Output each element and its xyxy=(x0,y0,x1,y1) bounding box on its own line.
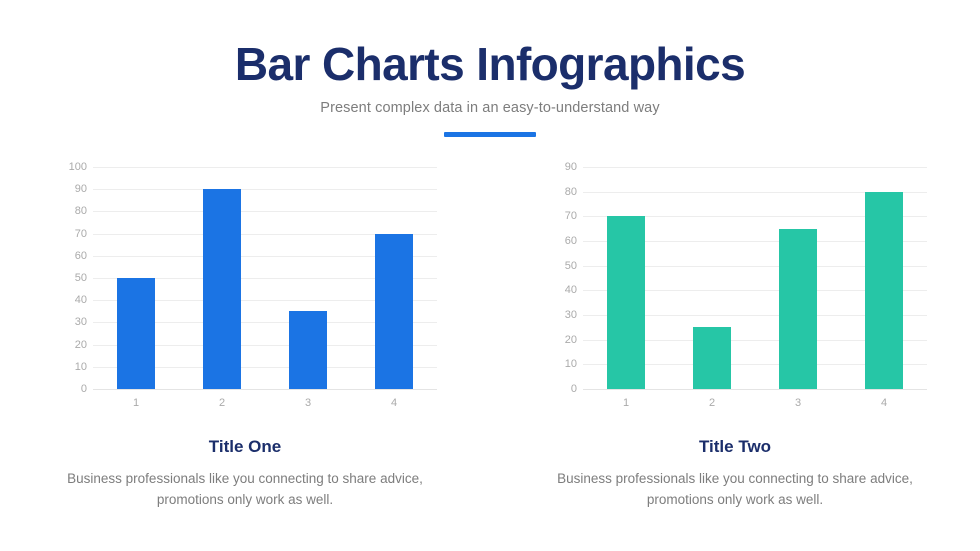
y-tick-label: 40 xyxy=(565,284,577,296)
y-tick-label: 60 xyxy=(75,250,87,262)
x-tick-label: 2 xyxy=(179,397,265,409)
chart-caption-one: Business professionals like you connecti… xyxy=(55,469,435,511)
y-tick-label: 20 xyxy=(75,339,87,351)
y-tick-label: 30 xyxy=(75,316,87,328)
bar[interactable] xyxy=(779,229,817,389)
bar[interactable] xyxy=(375,234,413,389)
y-tick-label: 100 xyxy=(69,161,87,173)
y-tick-label: 90 xyxy=(75,183,87,195)
y-tick-label: 0 xyxy=(571,383,577,395)
x-tick-label: 4 xyxy=(351,397,437,409)
y-tick-label: 50 xyxy=(565,260,577,272)
bar[interactable] xyxy=(289,311,327,389)
y-tick-label: 40 xyxy=(75,294,87,306)
plot-area-two xyxy=(583,167,927,389)
chart-title-one: Title One xyxy=(209,437,281,457)
bar-slot xyxy=(755,167,841,389)
x-tick-label: 1 xyxy=(583,397,669,409)
plot-area-one xyxy=(93,167,437,389)
chart-panel-two: 0102030405060708090 1234 Title Two Busin… xyxy=(490,155,980,511)
bar-slot xyxy=(265,167,351,389)
gridline xyxy=(583,389,927,390)
x-axis-labels-one: 1234 xyxy=(93,397,437,409)
bar-chart-two: 0102030405060708090 1234 xyxy=(535,155,935,405)
y-tick-label: 0 xyxy=(81,383,87,395)
x-tick-label: 3 xyxy=(755,397,841,409)
bar[interactable] xyxy=(865,192,903,389)
y-tick-label: 80 xyxy=(75,205,87,217)
x-tick-label: 3 xyxy=(265,397,351,409)
accent-divider xyxy=(444,132,536,137)
bars-one xyxy=(93,167,437,389)
slide-header: Bar Charts Infographics Present complex … xyxy=(0,40,980,137)
y-tick-label: 30 xyxy=(565,309,577,321)
y-tick-label: 70 xyxy=(75,228,87,240)
bar[interactable] xyxy=(117,278,155,389)
y-tick-label: 70 xyxy=(565,210,577,222)
y-axis-labels-one: 0102030405060708090100 xyxy=(45,167,87,389)
page-subtitle: Present complex data in an easy-to-under… xyxy=(0,100,980,116)
x-tick-label: 1 xyxy=(93,397,179,409)
page-title: Bar Charts Infographics xyxy=(0,40,980,88)
x-tick-label: 4 xyxy=(841,397,927,409)
y-tick-label: 20 xyxy=(565,334,577,346)
x-axis-labels-two: 1234 xyxy=(583,397,927,409)
bar-chart-one: 0102030405060708090100 1234 xyxy=(45,155,445,405)
bar[interactable] xyxy=(607,216,645,389)
charts-row: 0102030405060708090100 1234 Title One Bu… xyxy=(0,155,980,511)
y-tick-label: 50 xyxy=(75,272,87,284)
bar-slot xyxy=(351,167,437,389)
y-axis-labels-two: 0102030405060708090 xyxy=(535,167,577,389)
chart-caption-two: Business professionals like you connecti… xyxy=(545,469,925,511)
y-tick-label: 90 xyxy=(565,161,577,173)
y-tick-label: 10 xyxy=(565,358,577,370)
x-tick-label: 2 xyxy=(669,397,755,409)
y-tick-label: 10 xyxy=(75,361,87,373)
y-tick-label: 60 xyxy=(565,235,577,247)
bar-slot xyxy=(841,167,927,389)
y-tick-label: 80 xyxy=(565,186,577,198)
bar-slot xyxy=(93,167,179,389)
bars-two xyxy=(583,167,927,389)
bar-slot xyxy=(669,167,755,389)
chart-title-two: Title Two xyxy=(699,437,771,457)
chart-panel-one: 0102030405060708090100 1234 Title One Bu… xyxy=(0,155,490,511)
slide-canvas: Bar Charts Infographics Present complex … xyxy=(0,0,980,551)
bar[interactable] xyxy=(693,327,731,389)
gridline xyxy=(93,389,437,390)
bar-slot xyxy=(583,167,669,389)
bar-slot xyxy=(179,167,265,389)
bar[interactable] xyxy=(203,189,241,389)
